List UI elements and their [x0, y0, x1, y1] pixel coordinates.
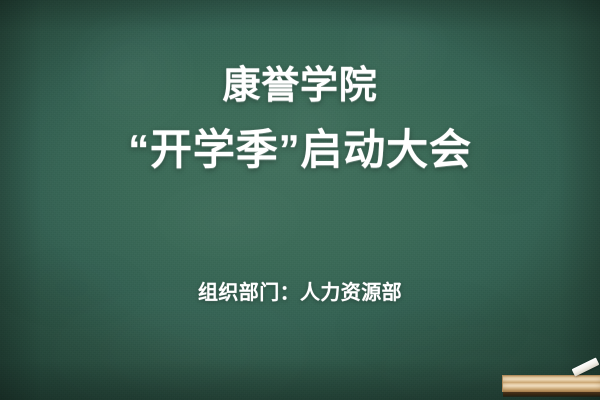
title-line-primary: 康誉学院	[0, 64, 600, 109]
presentation-slide: 康誉学院 “开学季”启动大会 组织部门：人力资源部	[0, 0, 600, 400]
chalk-ledge-face	[502, 375, 600, 392]
chalk-ledge	[502, 375, 600, 396]
slide-subtitle-organizing-department: 组织部门：人力资源部	[0, 276, 600, 305]
slide-content: 康誉学院 “开学季”启动大会 组织部门：人力资源部	[0, 0, 600, 400]
title-line-secondary: “开学季”启动大会	[0, 125, 600, 175]
chalk-ledge-shadow	[503, 392, 600, 397]
slide-title: 康誉学院 “开学季”启动大会	[0, 64, 600, 174]
